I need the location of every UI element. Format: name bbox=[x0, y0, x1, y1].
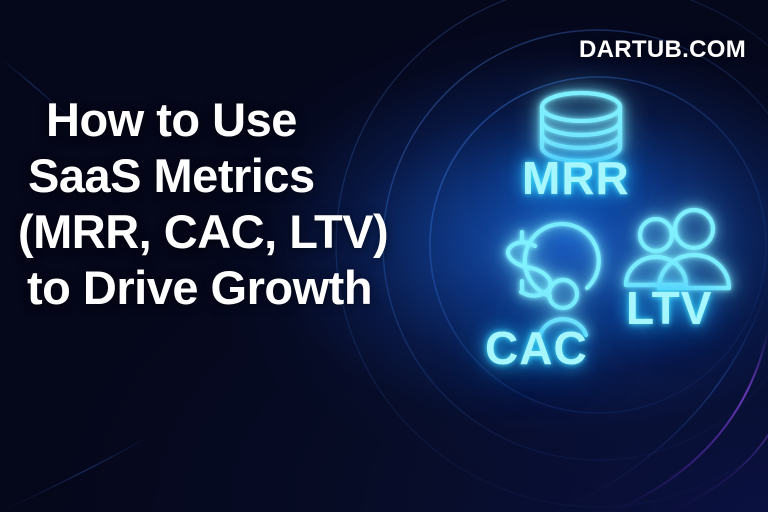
title-line-4: to Drive Growth bbox=[18, 260, 418, 316]
page-title: How to Use SaaS Metrics (MRR, CAC, LTV) … bbox=[18, 92, 418, 316]
banner-canvas: DARTUB.COM How to Use SaaS Metrics (MRR,… bbox=[0, 0, 768, 512]
title-line-3: (MRR, CAC, LTV) bbox=[18, 204, 418, 260]
metrics-icon-cluster: MRR CAC LTV bbox=[440, 60, 768, 400]
database-icon bbox=[542, 93, 620, 161]
metric-label-cac: CAC bbox=[485, 325, 588, 371]
title-line-2: SaaS Metrics bbox=[18, 148, 418, 204]
people-group-icon bbox=[626, 210, 729, 288]
metric-label-mrr: MRR bbox=[522, 155, 630, 201]
title-line-1: How to Use bbox=[18, 92, 418, 148]
metric-label-ltv: LTV bbox=[626, 285, 712, 331]
dollar-circle-person-icon bbox=[508, 224, 599, 335]
